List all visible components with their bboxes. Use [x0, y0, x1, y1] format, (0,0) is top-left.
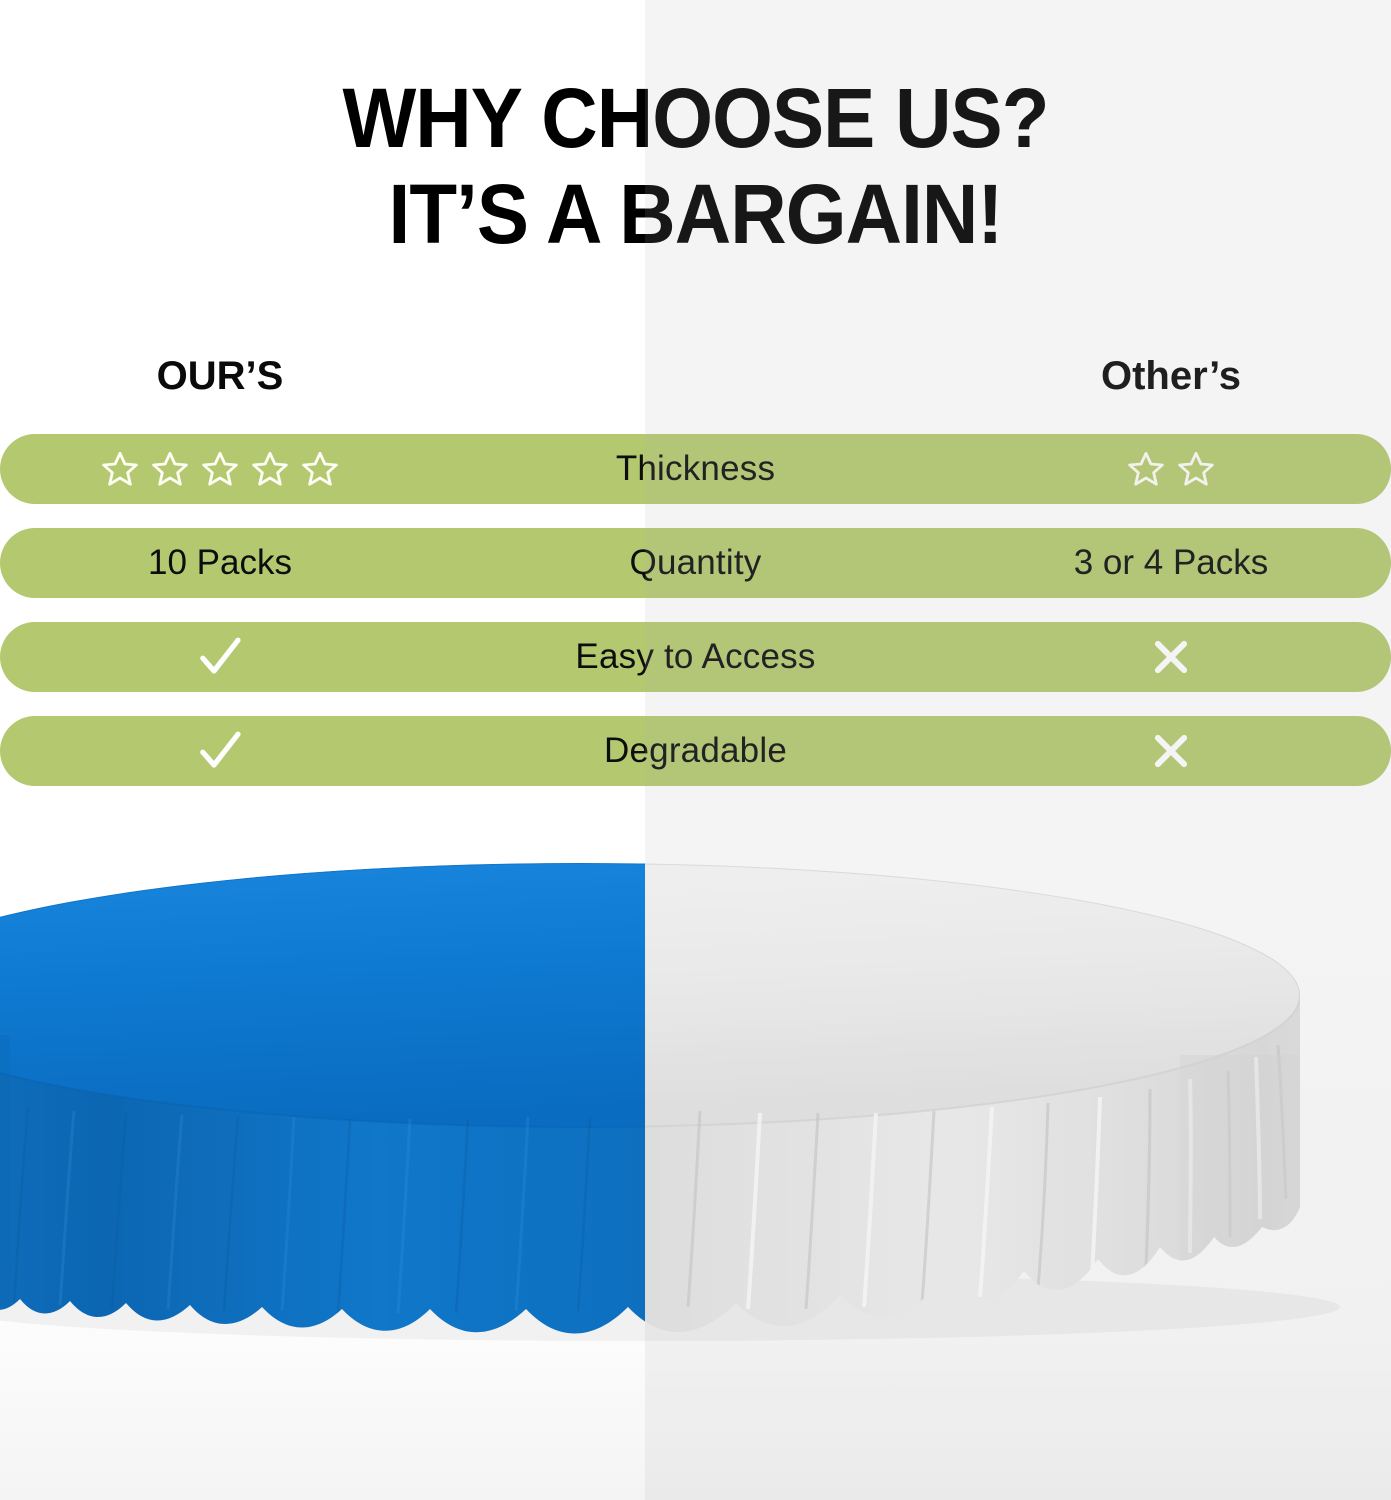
star-outline-icon	[250, 449, 290, 489]
comparison-row: Easy to Access	[0, 622, 1391, 692]
feature-label: Thickness	[616, 449, 775, 489]
star-outline-icon	[1126, 449, 1166, 489]
product-photo	[0, 855, 1391, 1500]
feature-label-cell: Quantity	[440, 528, 951, 598]
star-outline-icon	[100, 449, 140, 489]
infographic-page: WHY CHOOSE US? IT’S A BARGAIN! OUR’S Oth…	[0, 0, 1391, 1500]
check-icon	[196, 633, 244, 681]
comparison-row: Thickness	[0, 434, 1391, 504]
other-star-rating	[1126, 449, 1216, 489]
ours-cell	[0, 434, 440, 504]
comparison-row: Degradable	[0, 716, 1391, 786]
feature-label: Degradable	[604, 731, 787, 771]
tablecloth-illustration	[0, 855, 1391, 1500]
ours-value: 10 Packs	[148, 543, 292, 583]
feature-label-cell: Thickness	[440, 434, 951, 504]
comparison-rows: Thickness10 PacksQuantity3 or 4 PacksEas…	[0, 434, 1391, 810]
star-outline-icon	[200, 449, 240, 489]
ours-cell: 10 Packs	[0, 528, 440, 598]
feature-label: Quantity	[630, 543, 762, 583]
ours-star-rating	[100, 449, 340, 489]
other-value: 3 or 4 Packs	[1074, 543, 1269, 583]
cross-icon	[1150, 730, 1192, 772]
column-header-other: Other’s	[951, 348, 1391, 404]
feature-label-cell: Easy to Access	[440, 622, 951, 692]
other-cell	[951, 716, 1391, 786]
comparison-headers: OUR’S Other’s	[0, 348, 1391, 404]
star-outline-icon	[300, 449, 340, 489]
ours-cell	[0, 622, 440, 692]
title-line-1: WHY CHOOSE US?	[49, 70, 1343, 166]
feature-label-cell: Degradable	[440, 716, 951, 786]
title-line-2: IT’S A BARGAIN!	[49, 166, 1343, 262]
column-header-ours: OUR’S	[0, 348, 440, 404]
comparison-row: 10 PacksQuantity3 or 4 Packs	[0, 528, 1391, 598]
page-title: WHY CHOOSE US? IT’S A BARGAIN!	[0, 70, 1391, 262]
other-cell	[951, 622, 1391, 692]
feature-label: Easy to Access	[575, 637, 815, 677]
ours-cell	[0, 716, 440, 786]
other-cell: 3 or 4 Packs	[951, 528, 1391, 598]
star-outline-icon	[150, 449, 190, 489]
star-outline-icon	[1176, 449, 1216, 489]
other-cell	[951, 434, 1391, 504]
check-icon	[196, 727, 244, 775]
cross-icon	[1150, 636, 1192, 678]
